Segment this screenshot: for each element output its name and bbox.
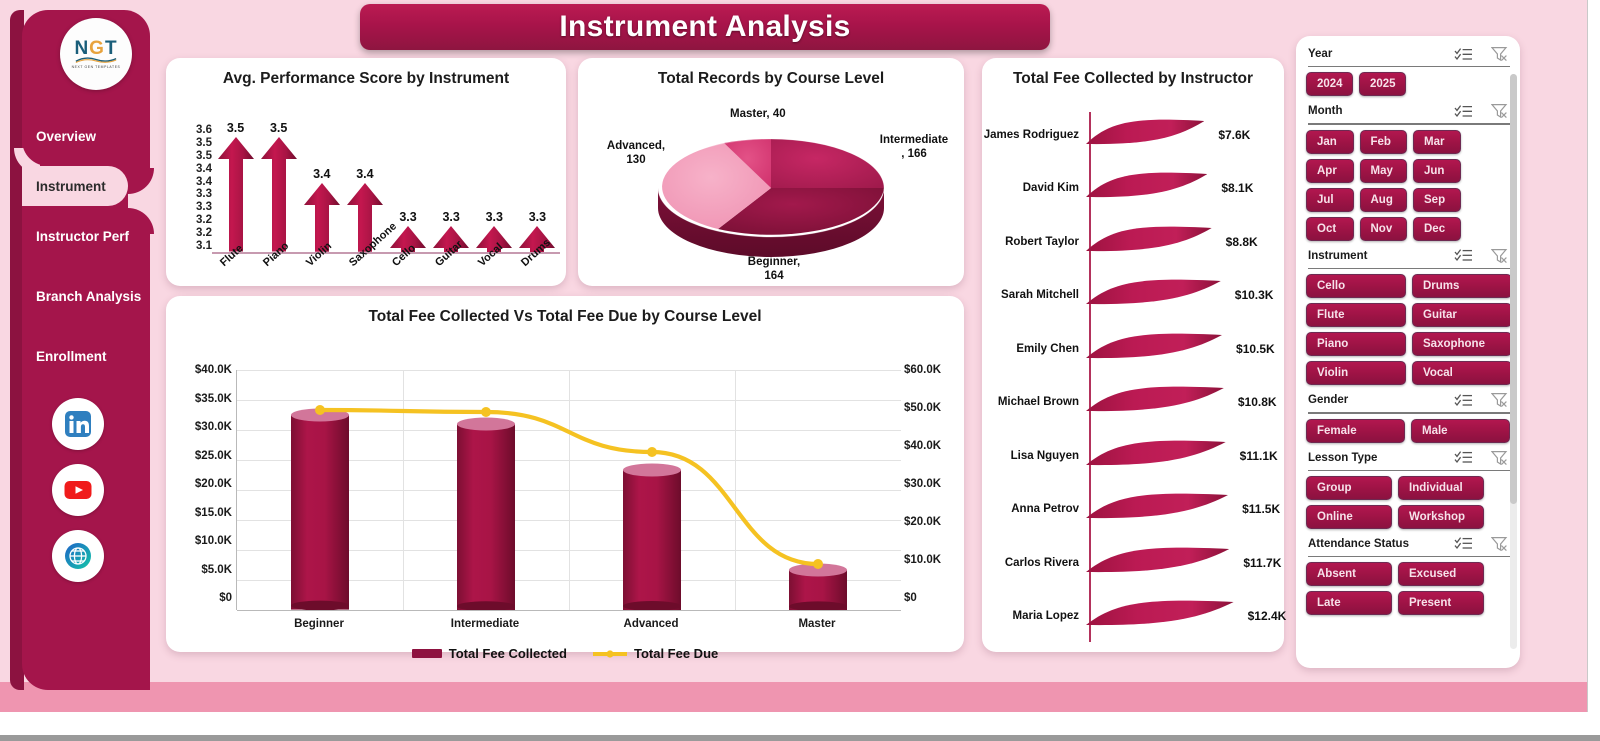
scrollbar-thumb[interactable]	[1510, 74, 1517, 504]
slicer-chips: AbsentExcusedLatePresent	[1306, 562, 1512, 615]
y-tick-secondary: $40.0K	[904, 440, 941, 452]
y-tick-secondary: $0	[904, 592, 917, 604]
y-tick-secondary: $30.0K	[904, 478, 941, 490]
slicer-title: Attendance Status	[1308, 538, 1409, 550]
x-tick-label: Master	[734, 618, 900, 630]
arrow-bar[interactable]: 3.5	[218, 121, 254, 252]
slicer-chip[interactable]: Piano	[1306, 332, 1406, 356]
bar-value-label: 3.4	[356, 167, 373, 181]
brand-logo: NGT NEXT GEN TEMPLATES	[60, 18, 132, 90]
slicer-divider	[1308, 123, 1510, 124]
slicer-chip[interactable]: Online	[1306, 505, 1392, 529]
sidebar-item-branch-analysis[interactable]: Branch Analysis	[22, 266, 150, 326]
chart-card-avg-performance: Avg. Performance Score by Instrument 3.6…	[166, 58, 566, 286]
ribbon-bar	[1086, 382, 1224, 422]
x-tick-label: Intermediate	[402, 618, 568, 630]
instructor-name: Robert Taylor	[982, 236, 1086, 248]
instructor-name: David Kim	[982, 182, 1086, 194]
sidebar-item-enrollment[interactable]: Enrollment	[22, 326, 150, 386]
y-tick: $35.0K	[195, 393, 232, 405]
clear-filter-icon[interactable]	[1491, 248, 1508, 264]
linkedin-icon[interactable]	[52, 398, 104, 450]
legend-label: Total Fee Due	[634, 646, 718, 661]
slicer-chips: JanFebMarAprMayJunJulAugSepOctNovDec	[1306, 130, 1512, 241]
ribbon-bar	[1086, 168, 1207, 208]
y-tick-secondary: $20.0K	[904, 516, 941, 528]
logo-subtitle: NEXT GEN TEMPLATES	[72, 65, 121, 69]
slicer-header: Attendance Status	[1306, 532, 1512, 556]
slicer-header-icons	[1454, 536, 1508, 552]
ribbon-bar	[1086, 543, 1229, 583]
pie-3d-graphic	[578, 88, 964, 284]
ribbon-bar	[1086, 489, 1228, 529]
y-tick: $10.0K	[195, 535, 232, 547]
slicer-header-icons	[1454, 248, 1508, 264]
slicer-chip[interactable]: Female	[1306, 419, 1405, 443]
canvas-bottom-strip	[0, 682, 1600, 712]
ribbon-bar	[1086, 115, 1204, 155]
bar-value-label: $8.1K	[1221, 181, 1253, 195]
multi-select-icon[interactable]	[1454, 47, 1473, 62]
bar-value-label: $11.1K	[1240, 449, 1278, 463]
slicer-header: Month	[1306, 99, 1512, 123]
gridline-vertical	[569, 370, 570, 610]
y-tick-secondary: $10.0K	[904, 554, 941, 566]
bar-value-label: $12.4K	[1248, 609, 1287, 623]
slicer-divider	[1308, 268, 1510, 269]
slicer-chip[interactable]: Guitar	[1412, 303, 1512, 327]
instructor-name: Michael Brown	[982, 396, 1086, 408]
slicer-instrument: InstrumentCelloDrumsFluteGuitarPianoSaxo…	[1306, 244, 1512, 385]
chart-card-fee-by-instructor: Total Fee Collected by Instructor James …	[982, 58, 1284, 652]
slicer-lesson-type: Lesson TypeGroupIndividualOnlineWorkshop	[1306, 446, 1512, 529]
slicer-chip[interactable]: Mar	[1413, 130, 1461, 154]
slicer-chip[interactable]: Vocal	[1412, 361, 1512, 385]
clear-filter-icon[interactable]	[1491, 46, 1508, 62]
sidebar-item-label: Instrument	[36, 179, 106, 194]
slicer-title: Year	[1308, 48, 1332, 60]
instructor-row[interactable]: Sarah Mitchell$10.3K	[982, 269, 1284, 323]
filter-panel: Year20242025MonthJanFebMarAprMayJunJulAu…	[1296, 36, 1520, 668]
page-title: Instrument Analysis	[360, 4, 1050, 50]
instructor-name: Carlos Rivera	[982, 557, 1086, 569]
y-tick: $15.0K	[195, 507, 232, 519]
legend-swatch-line	[593, 648, 627, 660]
chart-title: Total Records by Course Level	[578, 58, 964, 88]
slicer-chip[interactable]: Violin	[1306, 361, 1406, 385]
instructor-row[interactable]: Anna Petrov$11.5K	[982, 483, 1284, 537]
y-tick: 3.4	[196, 176, 212, 188]
instructor-row[interactable]: Robert Taylor$8.8K	[982, 215, 1284, 269]
instructor-name: Emily Chen	[982, 343, 1086, 355]
bar-value-label: 3.3	[442, 210, 459, 224]
slicer-chip[interactable]: Cello	[1306, 274, 1406, 298]
slicer-title: Gender	[1308, 394, 1348, 406]
slicer-chip[interactable]: 2024	[1306, 72, 1353, 96]
arrow-shape	[218, 137, 254, 252]
bar-value-label: $10.8K	[1238, 395, 1277, 409]
y-tick: 3.4	[196, 163, 212, 175]
slicer-chip[interactable]: Feb	[1360, 130, 1408, 154]
slicer-chips: CelloDrumsFluteGuitarPianoSaxophoneVioli…	[1306, 274, 1512, 385]
ribbon-bar	[1086, 436, 1226, 476]
arrow-shape	[261, 137, 297, 252]
y-tick: 3.2	[196, 214, 212, 226]
chart-card-fee-collected-vs-due: Total Fee Collected Vs Total Fee Due by …	[166, 296, 964, 652]
x-tick-label: Beginner	[236, 618, 402, 630]
slicer-chip[interactable]: Individual	[1398, 476, 1484, 500]
linkedin-glyph	[63, 409, 93, 439]
bar-value-label: $11.5K	[1242, 502, 1280, 516]
arrow-bar[interactable]: 3.5	[261, 121, 297, 252]
instructor-rows: James Rodriguez$7.6KDavid Kim$8.1KRobert…	[982, 108, 1284, 643]
y-tick: $5.0K	[201, 564, 232, 576]
y-tick: $25.0K	[195, 450, 232, 462]
sidebar-item-label: Branch Analysis	[36, 289, 141, 304]
column-bar[interactable]	[457, 417, 515, 610]
y-tick: 3.5	[196, 137, 212, 149]
slicer-chip[interactable]: Male	[1411, 419, 1510, 443]
chart-card-records-by-course-level: Total Records by Course Level Master, 40…	[578, 58, 964, 286]
sidebar-item-label: Instructor Perf	[36, 229, 129, 244]
slicer-divider	[1308, 556, 1510, 557]
instructor-row[interactable]: David Kim$8.1K	[982, 162, 1284, 216]
slicer-chips: GroupIndividualOnlineWorkshop	[1306, 476, 1512, 529]
slicer-chip[interactable]: Dec	[1413, 217, 1461, 241]
slicer-header-icons	[1454, 46, 1508, 62]
clear-filter-icon[interactable]	[1491, 392, 1508, 408]
page-title-text: Instrument Analysis	[559, 10, 850, 44]
chart-title: Avg. Performance Score by Instrument	[166, 58, 566, 88]
x-tick-label: Advanced	[568, 618, 734, 630]
slicer-chip[interactable]: Nov	[1360, 217, 1408, 241]
slicer-chip[interactable]: Excused	[1398, 562, 1484, 586]
instructor-name: James Rodriguez	[982, 129, 1086, 141]
slicer-divider	[1308, 470, 1510, 471]
ribbon-bar	[1086, 596, 1234, 636]
y-axis-ticks: 3.63.53.53.43.43.33.33.23.23.1	[176, 124, 212, 252]
youtube-glyph	[62, 475, 94, 505]
multi-select-icon[interactable]	[1454, 536, 1473, 551]
slicer-chip[interactable]: Drums	[1412, 274, 1512, 298]
y-tick: 3.1	[196, 240, 212, 252]
ribbon-bar	[1086, 275, 1221, 315]
slicer-title: Lesson Type	[1308, 452, 1377, 464]
sidebar-item-instructor-perf[interactable]: Instructor Perf	[22, 206, 150, 266]
primary-y-axis-ticks: $40.0K$35.0K$30.0K$25.0K$20.0K$15.0K$10.…	[174, 364, 232, 604]
column-bar[interactable]	[623, 463, 681, 610]
instructor-row[interactable]: Maria Lopez$12.4K	[982, 590, 1284, 644]
bar-value-label: 3.3	[529, 210, 546, 224]
bar-value-label: 3.3	[399, 210, 416, 224]
multi-select-icon[interactable]	[1454, 104, 1473, 119]
instructor-row[interactable]: Michael Brown$10.8K	[982, 376, 1284, 430]
clear-filter-icon[interactable]	[1491, 536, 1508, 552]
chart-legend: Total Fee Collected Total Fee Due	[166, 646, 964, 661]
chart-title: Total Fee Collected Vs Total Fee Due by …	[166, 296, 964, 326]
slicer-title: Month	[1308, 105, 1342, 117]
slicer-chips: 20242025	[1306, 72, 1512, 96]
multi-select-icon[interactable]	[1454, 450, 1473, 465]
slicer-header: Gender	[1306, 388, 1512, 412]
slicer-chip[interactable]: Workshop	[1398, 505, 1484, 529]
slicer-title: Instrument	[1308, 250, 1367, 262]
column-bar[interactable]	[291, 408, 349, 610]
canvas-right-gutter	[1587, 0, 1600, 712]
slicer-header: Lesson Type	[1306, 446, 1512, 470]
y-tick: $30.0K	[195, 421, 232, 433]
plot-grid	[236, 370, 900, 610]
slicer-divider	[1308, 412, 1510, 413]
slicer-header-icons	[1454, 392, 1508, 408]
y-tick: 3.3	[196, 188, 212, 200]
youtube-icon[interactable]	[52, 464, 104, 516]
bar-value-label: $11.7K	[1243, 556, 1281, 570]
bar-value-label: $8.8K	[1226, 235, 1258, 249]
slicer-chip[interactable]: Saxophone	[1412, 332, 1512, 356]
gridline-vertical	[735, 370, 736, 610]
clear-filter-icon[interactable]	[1491, 450, 1508, 466]
secondary-y-axis-ticks: $60.0K$50.0K$40.0K$30.0K$20.0K$10.0K$0	[904, 364, 958, 604]
slicer-chip[interactable]: Late	[1306, 591, 1392, 615]
slicer-chip[interactable]: Jun	[1413, 159, 1461, 183]
sidebar: NGT NEXT GEN TEMPLATES Overview Instrume…	[22, 10, 150, 690]
slicer-divider	[1308, 66, 1510, 67]
x-axis-labels: BeginnerIntermediateAdvancedMaster	[236, 618, 900, 630]
slicer-gender: GenderFemaleMale	[1306, 388, 1512, 442]
instructor-row[interactable]: Emily Chen$10.5K	[982, 322, 1284, 376]
clear-filter-icon[interactable]	[1491, 103, 1508, 119]
y-tick-secondary: $60.0K	[904, 364, 941, 376]
bar-value-label: 3.3	[486, 210, 503, 224]
slicer-year: Year20242025	[1306, 42, 1512, 96]
y-tick: 3.6	[196, 124, 212, 136]
instructor-name: Sarah Mitchell	[982, 289, 1086, 301]
slicer-chips: FemaleMale	[1306, 419, 1512, 443]
slicer-chip[interactable]: Apr	[1306, 159, 1354, 183]
y-tick: $40.0K	[195, 364, 232, 376]
instructor-name: Lisa Nguyen	[982, 450, 1086, 462]
instructor-row[interactable]: James Rodriguez$7.6K	[982, 108, 1284, 162]
y-tick: 3.2	[196, 227, 212, 239]
legend-item-fee-due[interactable]: Total Fee Due	[593, 646, 718, 661]
multi-select-icon[interactable]	[1454, 393, 1473, 408]
slicer-attendance-status: Attendance StatusAbsentExcusedLatePresen…	[1306, 532, 1512, 615]
slicer-chip[interactable]: Jan	[1306, 130, 1354, 154]
bar-value-label: 3.5	[227, 121, 244, 135]
slicer-header: Instrument	[1306, 244, 1512, 268]
slicer-chip[interactable]: Oct	[1306, 217, 1354, 241]
gridline-vertical	[403, 370, 404, 610]
gridline	[237, 610, 901, 611]
instructor-row[interactable]: Lisa Nguyen$11.1K	[982, 429, 1284, 483]
multi-select-icon[interactable]	[1454, 248, 1473, 263]
slicer-header-icons	[1454, 103, 1508, 119]
slicer-chip[interactable]: Sep	[1413, 188, 1461, 212]
bar-value-label: 3.5	[270, 121, 287, 135]
slicer-header-icons	[1454, 450, 1508, 466]
column-bar[interactable]	[789, 563, 847, 610]
slicer-chip[interactable]: Absent	[1306, 562, 1392, 586]
legend-label: Total Fee Collected	[449, 646, 567, 661]
bar-value-label: $7.6K	[1218, 128, 1250, 142]
bar-value-label: $10.3K	[1235, 288, 1274, 302]
bar-value-label: 3.4	[313, 167, 330, 181]
y-tick-secondary: $50.0K	[904, 402, 941, 414]
instructor-name: Anna Petrov	[982, 503, 1086, 515]
legend-item-fee-collected[interactable]: Total Fee Collected	[412, 646, 567, 661]
instructor-row[interactable]: Carlos Rivera$11.7K	[982, 536, 1284, 590]
x-axis-labels: FlutePianoViolinSaxophoneCelloGuitarVoca…	[214, 254, 559, 298]
y-tick: 3.5	[196, 150, 212, 162]
slicer-chip[interactable]: May	[1360, 159, 1408, 183]
website-icon[interactable]	[52, 530, 104, 582]
slicer-chip[interactable]: Aug	[1360, 188, 1408, 212]
slicer-header: Year	[1306, 42, 1512, 66]
window-bottom-bar	[0, 735, 1600, 741]
pie-plot: Master, 40 Advanced,130 Intermediate, 16…	[578, 88, 964, 284]
chart-title: Total Fee Collected by Instructor	[982, 58, 1284, 88]
ribbon-bar	[1086, 222, 1212, 262]
dashboard-root: NGT NEXT GEN TEMPLATES Overview Instrume…	[0, 0, 1600, 741]
combo-plot: $40.0K$35.0K$30.0K$25.0K$20.0K$15.0K$10.…	[166, 326, 964, 642]
globe-glyph	[62, 540, 94, 572]
y-tick: $20.0K	[195, 478, 232, 490]
y-tick: $0	[219, 592, 232, 604]
filter-panel-scroll-area: Year20242025MonthJanFebMarAprMayJunJulAu…	[1296, 36, 1520, 668]
slicer-chip[interactable]: Group	[1306, 476, 1392, 500]
avg-performance-plot: 3.63.53.53.43.43.33.33.23.23.1 3.53.53.4…	[166, 88, 566, 273]
slicer-chip[interactable]: Jul	[1306, 188, 1354, 212]
instructor-name: Maria Lopez	[982, 610, 1086, 622]
slicer-chip[interactable]: 2025	[1359, 72, 1406, 96]
sidebar-nav: Overview Instrument Instructor Perf Bran…	[22, 106, 150, 386]
sidebar-item-label: Enrollment	[36, 349, 107, 364]
filter-panel-scrollbar[interactable]	[1510, 74, 1517, 649]
sidebar-item-instrument[interactable]: Instrument	[22, 166, 128, 206]
slicer-chip[interactable]: Present	[1398, 591, 1484, 615]
legend-swatch-bar	[412, 649, 442, 658]
social-links	[52, 398, 122, 596]
fee-by-instructor-plot: James Rodriguez$7.6KDavid Kim$8.1KRobert…	[982, 88, 1284, 648]
logo-wave-icon	[72, 56, 120, 63]
slicer-chip[interactable]: Flute	[1306, 303, 1406, 327]
y-tick: 3.3	[196, 201, 212, 213]
bar-value-label: $10.5K	[1236, 342, 1275, 356]
ribbon-bar	[1086, 329, 1222, 369]
slicer-month: MonthJanFebMarAprMayJunJulAugSepOctNovDe…	[1306, 99, 1512, 240]
